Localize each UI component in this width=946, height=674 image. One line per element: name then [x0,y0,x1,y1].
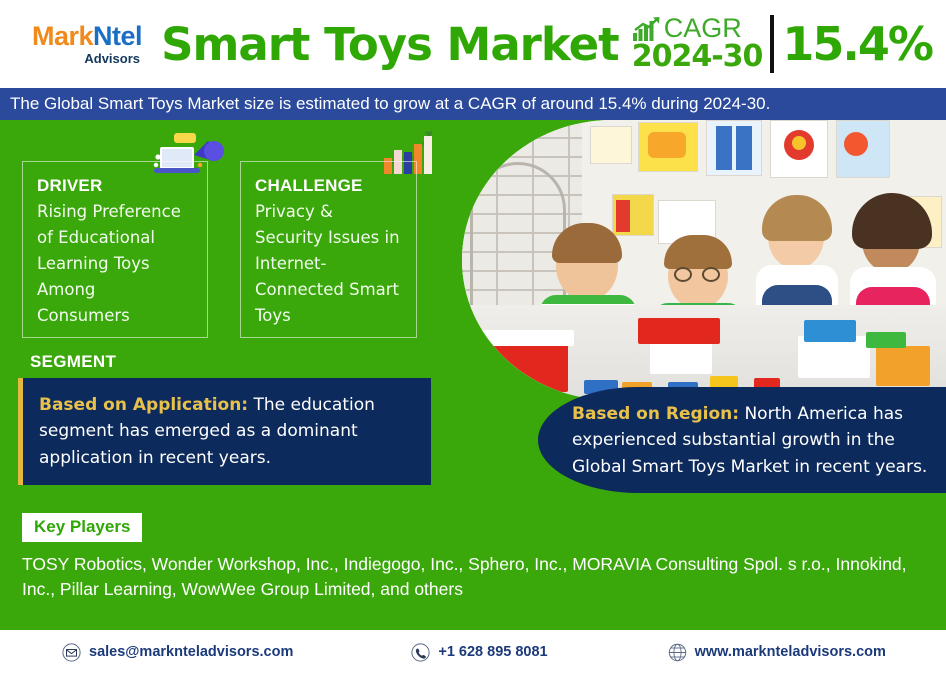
challenge-card: CHALLENGE Privacy & Security Issues in I… [240,161,417,338]
logo-wordmark: MarkNtel [32,23,142,50]
company-logo[interactable]: MarkNtel Advisors [12,23,142,65]
logo-word-mark: Mark [32,21,93,51]
driver-title: DRIVER [37,176,193,196]
segment-application-card: Based on Application: The education segm… [18,378,431,485]
cagr-label-row: CAGR [632,15,742,43]
footer-phone[interactable]: +1 628 895 8081 [411,643,547,662]
envelope-icon [62,643,81,662]
segment-application-text: Based on Application: The education segm… [39,392,413,471]
footer-email[interactable]: sales@marknteladvisors.com [62,643,293,662]
cagr-label: CAGR [664,15,742,43]
cagr-divider [770,15,774,73]
driver-text: Rising Preference of Educational Learnin… [37,199,193,329]
cagr-years: 2024-30 [632,42,763,73]
footer: sales@marknteladvisors.com +1 628 895 80… [0,630,946,674]
footer-email-text: sales@marknteladvisors.com [89,644,293,660]
footer-website-text: www.marknteladvisors.com [695,644,886,660]
key-players-list: TOSY Robotics, Wonder Workshop, Inc., In… [22,552,922,603]
segment-region-card: Based on Region: North America has exper… [538,387,946,493]
cagr-value: 15.4% [782,17,932,71]
globe-icon [668,643,687,662]
segment-region-text: Based on Region: North America has exper… [572,401,932,480]
driver-card: DRIVER Rising Preference of Educational … [22,161,208,338]
infographic-page: MarkNtel Advisors Smart Toys Market [0,0,946,674]
header: MarkNtel Advisors Smart Toys Market [0,0,946,88]
segment-application-strong: Based on Application: [39,395,248,415]
logo-word-ntel: Ntel [93,21,142,51]
cagr-block: CAGR 2024-30 15.4% [632,15,932,73]
challenge-text: Privacy & Security Issues in Internet-Co… [255,199,402,329]
segment-region-strong: Based on Region: [572,404,739,424]
children-playing-with-building-blocks-photo [462,120,946,400]
footer-phone-text: +1 628 895 8081 [438,644,547,660]
headline-banner: The Global Smart Toys Market size is est… [0,88,946,120]
page-title: Smart Toys Market [142,18,632,71]
key-players-badge: Key Players [22,513,142,542]
footer-website[interactable]: www.marknteladvisors.com [668,643,886,662]
cagr-left-column: CAGR 2024-30 [632,15,763,73]
segment-label: SEGMENT [30,352,116,372]
challenge-title: CHALLENGE [255,176,402,196]
phone-icon [411,643,430,662]
logo-subtitle: Advisors [84,52,140,65]
